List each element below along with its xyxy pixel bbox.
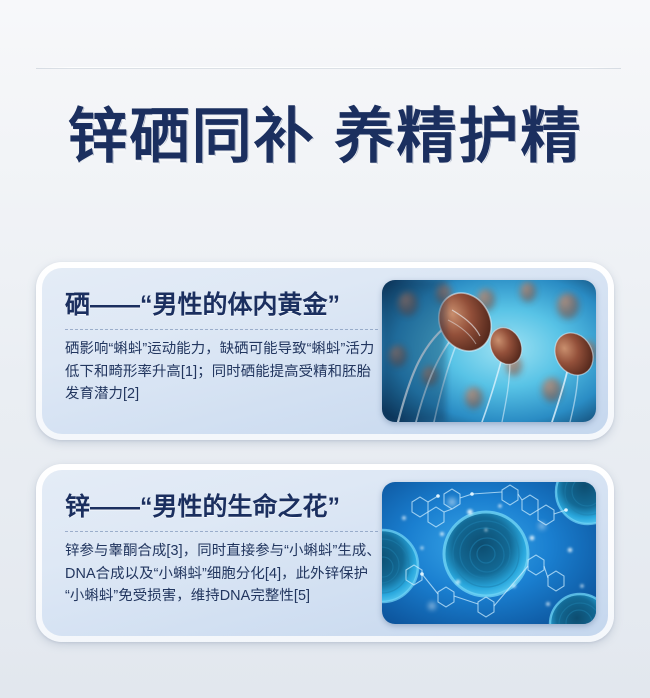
card-body-selenium: 硒影响“蝌蚪”运动能力，缺硒可能导致“蝌蚪”活力低下和畸形率升高[1]；同时硒能… (65, 338, 383, 406)
card-list: 硒——“男性的体内黄金” 硒影响“蝌蚪”运动能力，缺硒可能导致“蝌蚪”活力低下和… (0, 262, 650, 666)
info-card-zinc: 锌——“男性的生命之花” 锌参与睾酮合成[3]，同时直接参与“小蝌蚪”生成、DN… (42, 470, 608, 636)
card-frame-selenium: 硒——“男性的体内黄金” 硒影响“蝌蚪”运动能力，缺硒可能导致“蝌蚪”活力低下和… (36, 262, 614, 440)
card-image-selenium (382, 280, 596, 422)
cells-molecule-icon (382, 482, 596, 624)
card-image-zinc (382, 482, 596, 624)
sperm-cells-icon (382, 280, 596, 422)
card-text-selenium: 硒——“男性的体内黄金” 硒影响“蝌蚪”运动能力，缺硒可能导致“蝌蚪”活力低下和… (42, 268, 393, 434)
card-text-zinc: 锌——“男性的生命之花” 锌参与睾酮合成[3]，同时直接参与“小蝌蚪”生成、DN… (42, 470, 393, 636)
card-heading-zinc: 锌——“男性的生命之花” (65, 492, 383, 522)
card-heading-selenium: 硒——“男性的体内黄金” (65, 290, 383, 320)
page-title: 锌硒同补 养精护精 (0, 100, 650, 174)
page-bottom-shade (0, 640, 650, 698)
card-divider-selenium (65, 329, 378, 330)
card-divider-zinc (65, 531, 378, 532)
top-divider (36, 67, 621, 69)
info-card-selenium: 硒——“男性的体内黄金” 硒影响“蝌蚪”运动能力，缺硒可能导致“蝌蚪”活力低下和… (42, 268, 608, 434)
card-body-zinc: 锌参与睾酮合成[3]，同时直接参与“小蝌蚪”生成、DNA合成以及“小蝌蚪”细胞分… (65, 540, 383, 608)
card-frame-zinc: 锌——“男性的生命之花” 锌参与睾酮合成[3]，同时直接参与“小蝌蚪”生成、DN… (36, 464, 614, 642)
